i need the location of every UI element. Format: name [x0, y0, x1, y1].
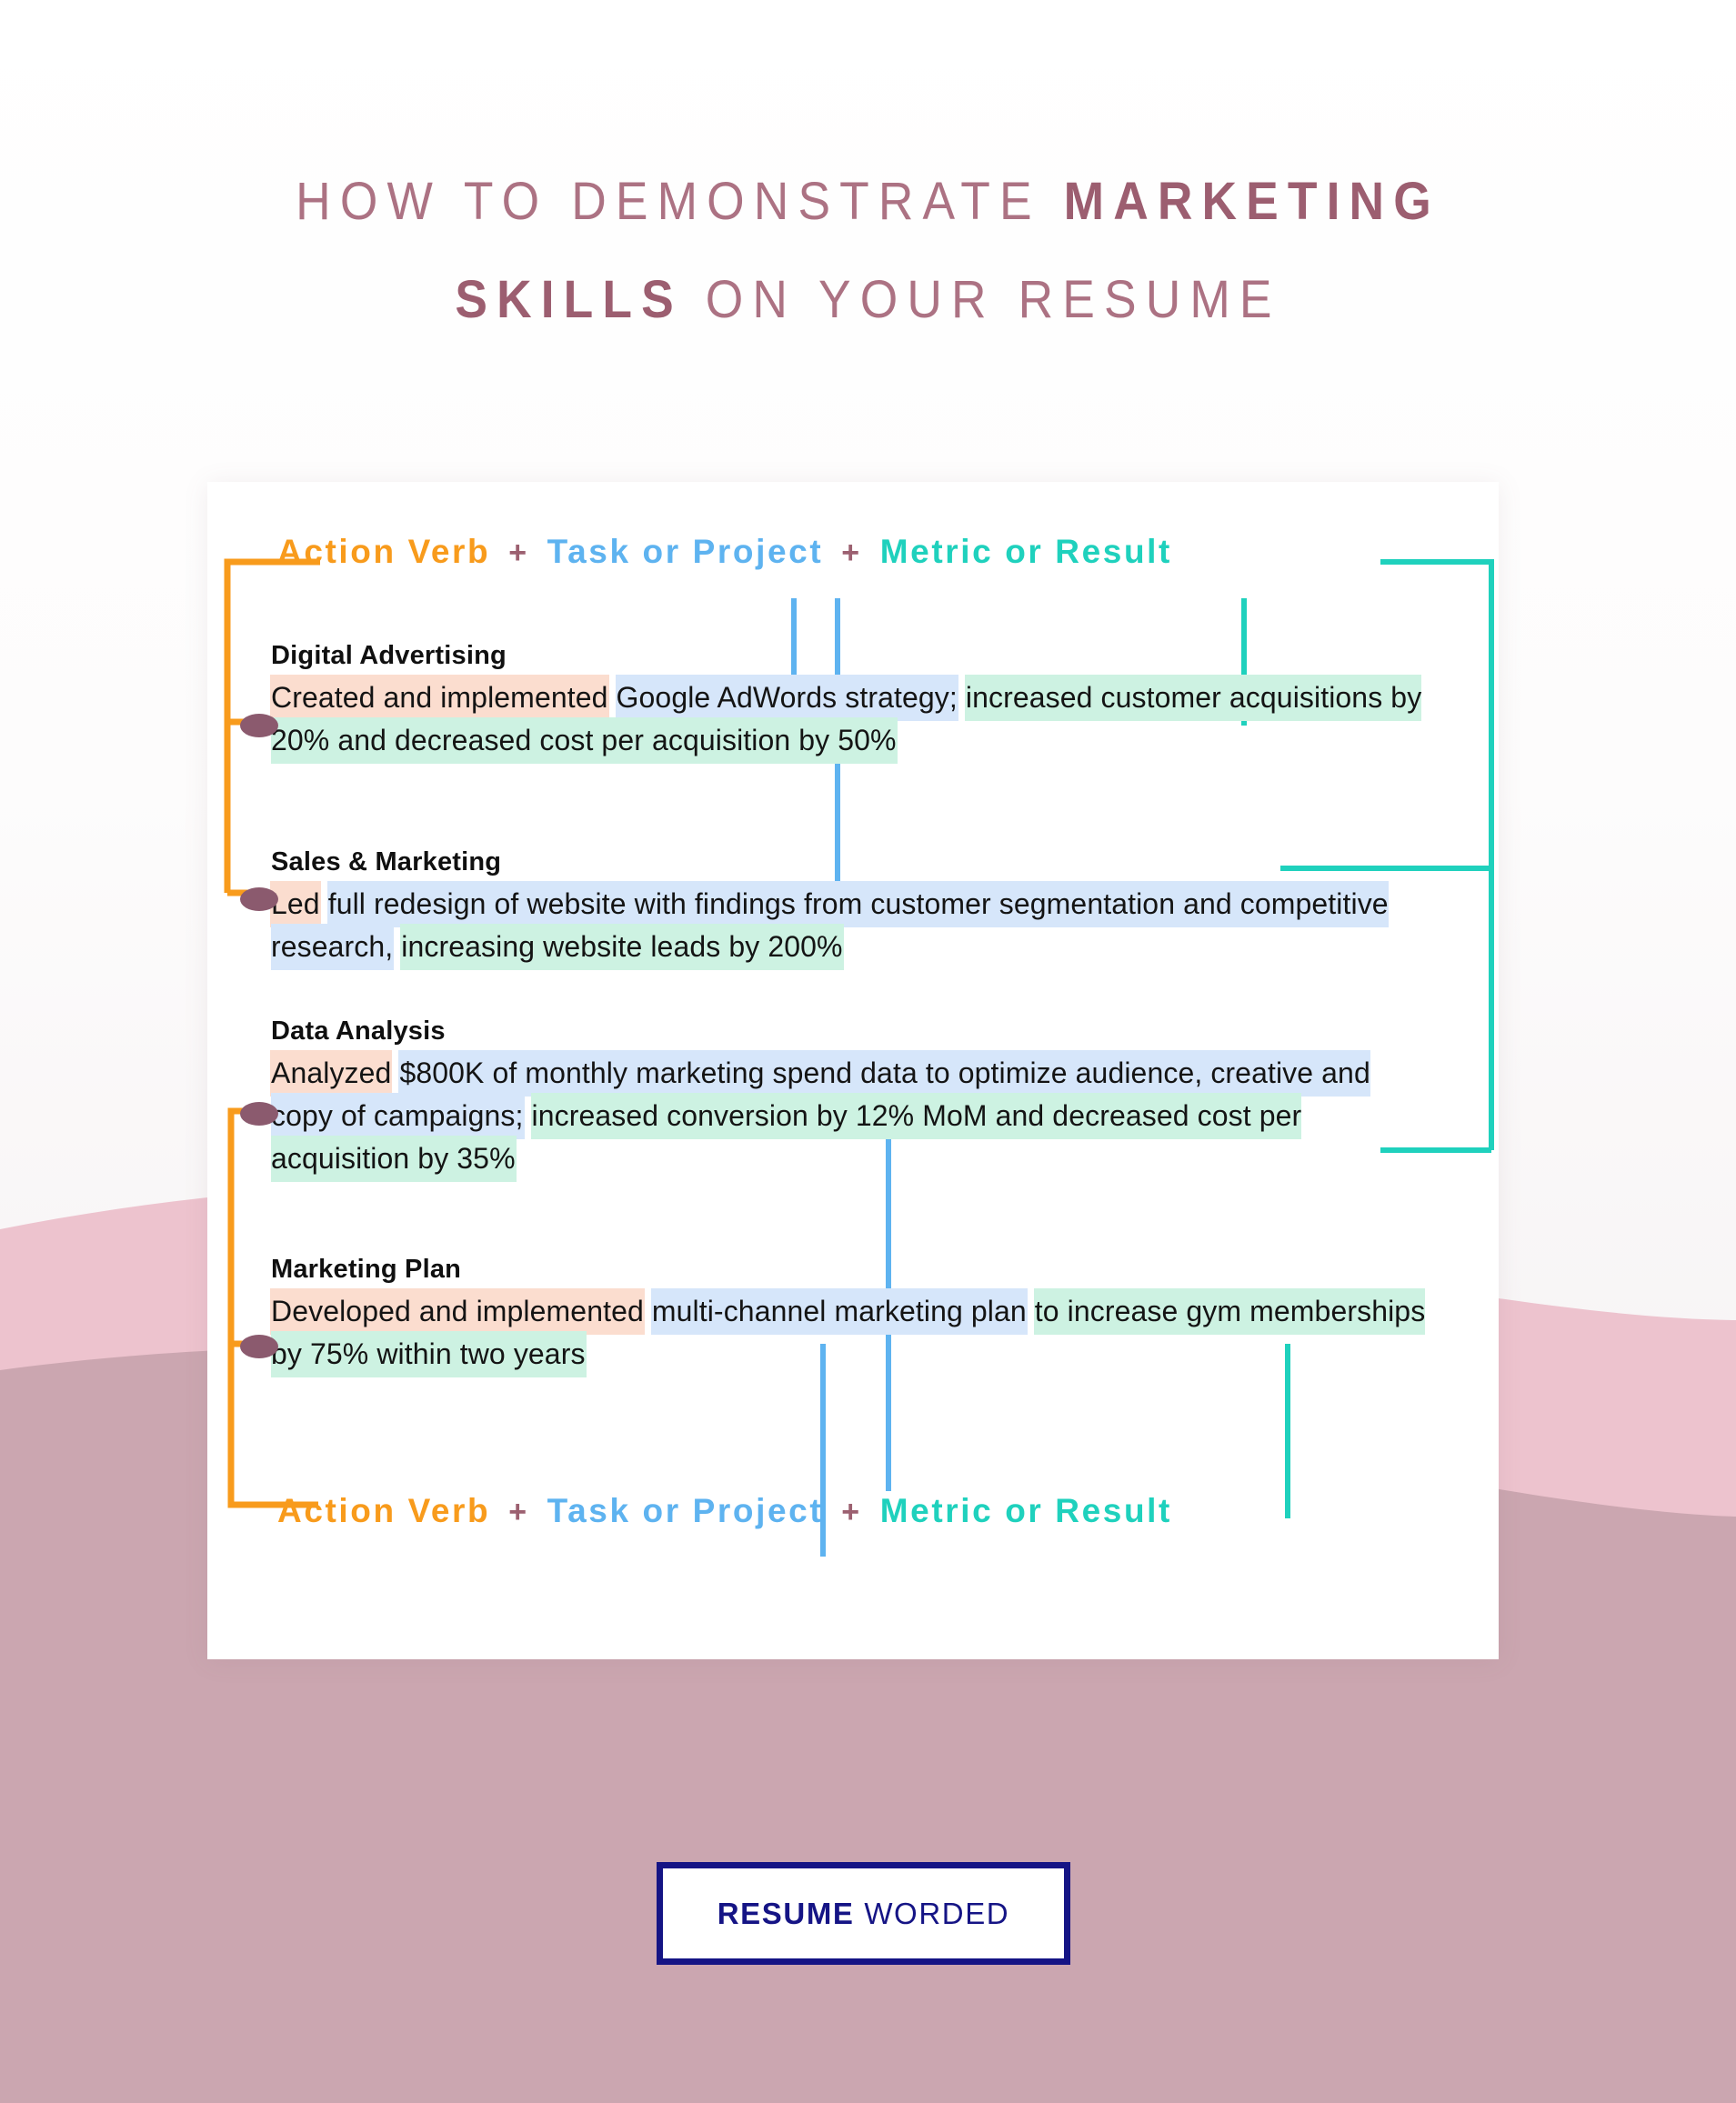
title-text-regular-2: ON YOUR RESUME [683, 270, 1281, 329]
bullet-text: Analyzed $800K of monthly marketing spen… [271, 1052, 1426, 1180]
bullet-label: Digital Advertising [271, 641, 1426, 671]
bullet-dot-icon [240, 714, 278, 737]
bullet-label: Data Analysis [271, 1016, 1426, 1046]
bullet-task-highlight: Google AdWords strategy; [617, 676, 958, 720]
legend-bottom-metric: Metric or Result [880, 1492, 1172, 1529]
legend-bottom-plus-1: + [490, 1495, 547, 1529]
title-text-bold-2: SKILLS [455, 270, 682, 329]
bullet-task-highlight: multi-channel marketing plan [652, 1289, 1027, 1334]
bullet-text: Developed and implemented multi-channel … [271, 1290, 1426, 1376]
bullet-metric-highlight: increasing website leads by 200% [401, 925, 842, 969]
bullet-verb-highlight: Created and implemented [271, 676, 608, 720]
page-title-line-2: SKILLS ON YOUR RESUME [69, 251, 1666, 349]
title-text-bold-1: MARKETING [1064, 172, 1440, 231]
logo-text: RESUME WORDED [717, 1897, 1010, 1931]
logo-text-bold: RESUME [717, 1897, 855, 1930]
legend-bottom: Action Verb+Task or Project+Metric or Re… [277, 1492, 1172, 1530]
bullet-verb-highlight: Led [271, 882, 320, 926]
page-title-line-1: HOW TO DEMONSTRATE MARKETING [69, 153, 1666, 251]
bullet-dot-icon [240, 1335, 278, 1358]
bullet-verb-highlight: Developed and implemented [271, 1289, 644, 1334]
legend-top: Action Verb+Task or Project+Metric or Re… [277, 533, 1172, 571]
legend-top-metric: Metric or Result [880, 533, 1172, 570]
bullet-dot-icon [240, 1102, 278, 1126]
bullet-label: Sales & Marketing [271, 847, 1426, 877]
legend-top-action-verb: Action Verb [277, 533, 490, 570]
title-text-regular-1: HOW TO DEMONSTRATE [296, 172, 1063, 231]
legend-bottom-task: Task or Project [547, 1492, 824, 1529]
legend-top-plus-1: + [490, 536, 547, 570]
legend-top-task: Task or Project [547, 533, 824, 570]
bullet-text: Created and implemented Google AdWords s… [271, 676, 1426, 762]
resume-worded-logo[interactable]: RESUME WORDED [657, 1862, 1070, 1965]
page-title: HOW TO DEMONSTRATE MARKETING SKILLS ON Y… [0, 153, 1736, 349]
bullet-block-data-analysis: Data Analysis Analyzed $800K of monthly … [271, 1016, 1426, 1180]
legend-top-plus-2: + [823, 536, 879, 570]
bullet-block-digital-advertising: Digital Advertising Created and implemen… [271, 641, 1426, 762]
bullet-dot-icon [240, 887, 278, 911]
bullet-verb-highlight: Analyzed [271, 1051, 391, 1096]
bullet-block-sales-marketing: Sales & Marketing Led full redesign of w… [271, 847, 1426, 968]
bullet-label: Marketing Plan [271, 1255, 1426, 1285]
bullet-text: Led full redesign of website with findin… [271, 883, 1426, 968]
legend-bottom-plus-2: + [823, 1495, 879, 1529]
logo-text-regular: WORDED [855, 1897, 1010, 1930]
bullet-block-marketing-plan: Marketing Plan Developed and implemented… [271, 1255, 1426, 1376]
legend-bottom-action-verb: Action Verb [277, 1492, 490, 1529]
